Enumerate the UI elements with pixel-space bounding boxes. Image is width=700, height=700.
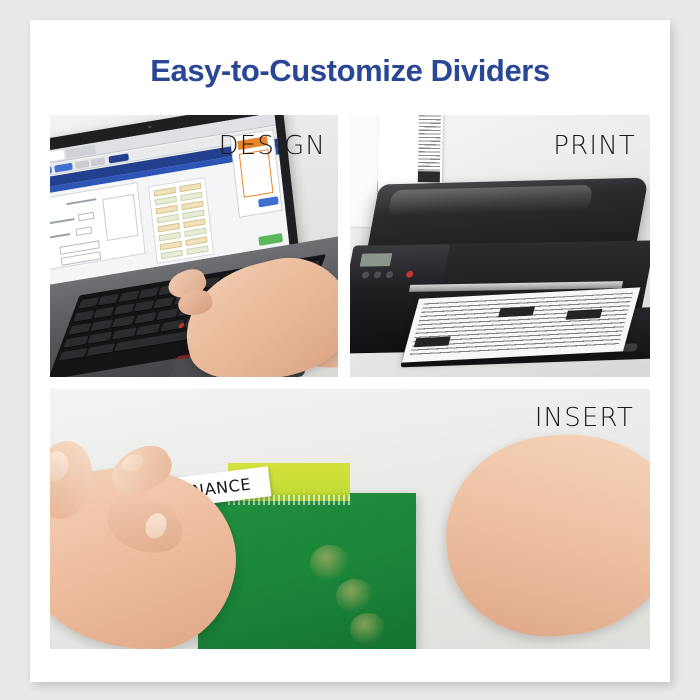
laptop-webcam-icon	[148, 125, 151, 128]
panel-label-insert: INSERT	[535, 403, 634, 433]
lid-highlight	[387, 185, 593, 216]
panel-print: PRINT	[350, 115, 650, 377]
printed-tab-label	[565, 309, 602, 320]
panel-label-design: DESIGN	[219, 131, 326, 161]
printer-power-button	[405, 271, 413, 278]
printer-button	[361, 271, 369, 278]
printed-text-lines	[409, 293, 633, 358]
printed-tab-label	[414, 336, 451, 347]
panel-design: DESIGN	[50, 115, 338, 377]
panel-grid: DESIGN	[50, 115, 650, 660]
printer-button	[385, 271, 393, 278]
form-input	[76, 226, 93, 236]
preview-save-button	[258, 233, 283, 246]
panel-insert: FINANCE INSERT	[50, 389, 650, 649]
panel-label-print: PRINT	[553, 131, 636, 161]
app-form-panel	[50, 182, 146, 271]
printer-button	[373, 271, 381, 278]
preview-button	[258, 196, 279, 207]
product-image-card: Easy-to-Customize Dividers	[30, 20, 670, 682]
printer-control-panel	[350, 244, 450, 286]
form-input	[78, 212, 95, 222]
printer-lcd-screen	[360, 253, 393, 267]
page-title: Easy-to-Customize Dividers	[30, 53, 670, 89]
divider-sheet-preview	[148, 177, 214, 264]
printed-divider-sheet	[402, 287, 641, 362]
